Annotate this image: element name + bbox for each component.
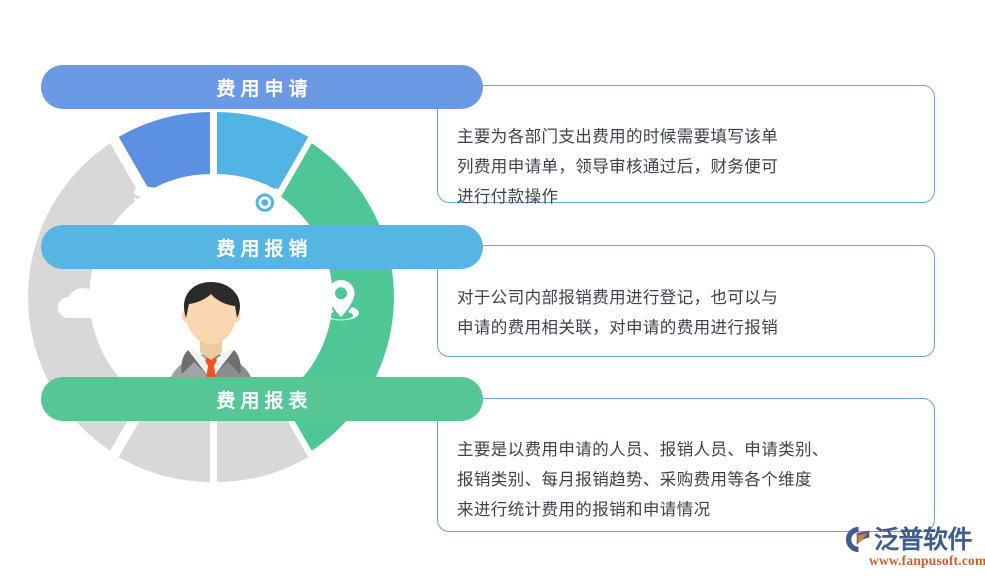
brand-logo[interactable]: 泛普软件 www.fanpusoft.com (845, 524, 977, 570)
card-body-expense-report: 主要是以费用申请的人员、报销人员、申请类别、 报销类别、每月报销趋势、采购费用等… (457, 435, 917, 525)
fanpu-logo-icon (845, 526, 872, 553)
donut-chart (16, 102, 406, 492)
card-title-expense-report[interactable]: 费用报表 (41, 377, 483, 421)
card-body-expense-application: 主要为各部门支出费用的时候需要填写该单 列费用申请单，领导审核通过后，财务便可 … (457, 122, 917, 212)
brand-url: www.fanpusoft.com (869, 553, 977, 569)
segment-coins[interactable] (119, 112, 210, 190)
gear-icon (247, 184, 283, 220)
card-body-expense-reimbursement: 对于公司内部报销费用进行登记，也可以与 申请的费用相关联，对申请的费用进行报销 (457, 283, 917, 343)
card-title-expense-application[interactable]: 费用申请 (41, 65, 483, 109)
circular-diagram (16, 102, 406, 492)
brand-name: 泛普软件 (874, 526, 972, 553)
brand-logo-row: 泛普软件 (845, 524, 977, 554)
card-title-expense-reimbursement[interactable]: 费用报销 (41, 225, 483, 269)
infographic-canvas: 费用申请 主要为各部门支出费用的时候需要填写该单 列费用申请单，领导审核通过后，… (0, 0, 985, 576)
coins-icon (134, 187, 178, 229)
